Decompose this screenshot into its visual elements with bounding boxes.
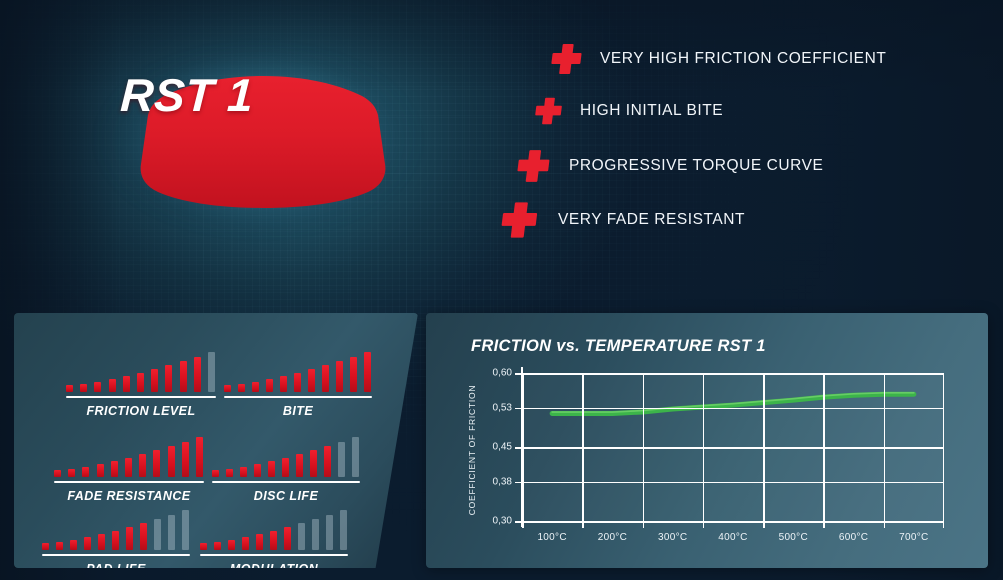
chart-y-tick	[515, 482, 522, 484]
chart-x-tick	[643, 521, 645, 528]
rating-underline	[200, 554, 348, 556]
rating-bar-filled	[84, 537, 91, 550]
chart-y-tick	[515, 521, 522, 523]
rating-meter: PAD LIFE	[42, 506, 190, 576]
rating-bar-filled	[180, 361, 187, 392]
rating-bar-filled	[111, 461, 118, 477]
ratings-panel: FRICTION LEVELBITEFADE RESISTANCEDISC LI…	[14, 313, 418, 568]
rating-bar-filled	[256, 534, 263, 550]
rating-bar-empty	[326, 515, 333, 550]
rating-bar-filled	[214, 542, 221, 550]
chart-x-tick-label: 600°C	[839, 532, 868, 543]
chart-gridline-vertical	[522, 373, 524, 521]
rating-label: DISC LIFE	[212, 489, 360, 503]
chart-gridline-vertical	[763, 373, 765, 521]
rating-bar-filled	[350, 357, 357, 392]
rating-bar-filled	[151, 369, 158, 392]
rating-underline	[54, 481, 204, 483]
chart-gridline-vertical	[643, 373, 645, 521]
rating-bar-empty	[154, 519, 161, 550]
rating-bars	[66, 348, 216, 392]
rating-label: FRICTION LEVEL	[66, 404, 216, 418]
rating-bar-filled	[296, 454, 303, 477]
rating-bar-filled	[182, 442, 189, 477]
rating-bar-filled	[282, 458, 289, 477]
feature-item-0: VERY HIGH FRICTION COEFFICIENT	[550, 42, 886, 76]
plus-icon	[534, 96, 564, 126]
rating-bar-filled	[196, 437, 203, 477]
rating-bar-filled	[168, 446, 175, 477]
rating-label: FADE RESISTANCE	[54, 489, 204, 503]
rating-bar-filled	[109, 379, 116, 392]
chart-gridline-horizontal	[522, 373, 944, 375]
rating-underline	[212, 481, 360, 483]
chart-gridline-vertical	[703, 373, 705, 521]
chart-y-tick-label: 0,45	[493, 442, 512, 453]
rating-bar-filled	[324, 446, 331, 477]
rating-underline	[42, 554, 190, 556]
rating-bar-filled	[280, 376, 287, 392]
chart-x-tick-label: 200°C	[598, 532, 627, 543]
chart-y-tick	[515, 373, 522, 375]
chart-x-tick-label: 100°C	[537, 532, 566, 543]
rating-bar-empty	[168, 515, 175, 550]
rating-label: BITE	[224, 404, 372, 418]
chart-x-tick-label: 400°C	[718, 532, 747, 543]
rating-bar-empty	[352, 437, 359, 477]
rating-bar-filled	[242, 537, 249, 550]
rating-bar-empty	[312, 519, 319, 550]
rating-bar-filled	[66, 385, 73, 392]
rating-underline	[66, 396, 216, 398]
rating-bar-filled	[140, 523, 147, 550]
features-list: VERY HIGH FRICTION COEFFICIENT HIGH INIT…	[500, 26, 980, 246]
rating-bar-filled	[54, 470, 61, 477]
chart-y-axis-label: COEFFICIENT OF FRICTION	[464, 370, 480, 530]
feature-item-3: VERY FADE RESISTANT	[500, 200, 745, 240]
chart-gridline-vertical	[884, 373, 886, 521]
rating-bar-filled	[194, 357, 201, 392]
product-logo: RST 1	[60, 22, 460, 252]
chart-y-tick-label: 0,38	[493, 476, 512, 487]
rating-bar-filled	[240, 467, 247, 477]
rating-bar-filled	[266, 379, 273, 392]
rating-meter: BITE	[224, 348, 372, 418]
chart-x-tick	[943, 521, 945, 528]
chart-x-tick-label: 500°C	[779, 532, 808, 543]
rating-bar-filled	[226, 469, 233, 477]
plus-icon	[516, 148, 552, 184]
rating-bars	[42, 506, 190, 550]
feature-label: HIGH INITIAL BITE	[580, 102, 723, 120]
rating-bar-filled	[212, 470, 219, 477]
chart-y-tick	[515, 447, 522, 449]
rating-bar-filled	[310, 450, 317, 477]
chart-y-tick-label: 0,30	[493, 516, 512, 527]
rating-bar-filled	[97, 464, 104, 477]
feature-label: PROGRESSIVE TORQUE CURVE	[569, 157, 823, 175]
rating-bar-filled	[56, 542, 63, 550]
rating-bar-filled	[42, 543, 49, 550]
rating-bar-empty	[298, 523, 305, 550]
rating-bar-filled	[68, 469, 75, 477]
rating-bars	[212, 433, 360, 477]
chart-gridline-horizontal	[522, 447, 944, 449]
chart-gridline-horizontal	[522, 521, 944, 523]
rating-meter: DISC LIFE	[212, 433, 360, 503]
rating-bar-empty	[182, 510, 189, 550]
chart-x-tick	[522, 521, 524, 528]
ratings-grid: FRICTION LEVELBITEFADE RESISTANCEDISC LI…	[14, 313, 418, 568]
rating-bar-filled	[200, 543, 207, 550]
chart-gridline-vertical	[823, 373, 825, 521]
rating-bar-filled	[294, 373, 301, 392]
rating-bar-filled	[284, 527, 291, 550]
feature-item-1: HIGH INITIAL BITE	[534, 96, 723, 126]
chart-y-tick	[515, 408, 522, 410]
rating-meter: MODULATION	[200, 506, 348, 576]
chart-panel: FRICTION vs. TEMPERATURE RST 1 COEFFICIE…	[426, 313, 988, 568]
chart-plot-area: 0,600,530,450,380,30100°C200°C300°C400°C…	[522, 373, 944, 521]
chart-gridline-vertical	[943, 373, 945, 521]
rating-bar-empty	[340, 510, 347, 550]
rating-bar-filled	[308, 369, 315, 392]
chart-gridline-vertical	[582, 373, 584, 521]
rating-bar-filled	[228, 540, 235, 550]
rating-bar-filled	[137, 373, 144, 392]
rating-bar-filled	[98, 534, 105, 550]
rating-meter: FRICTION LEVEL	[66, 348, 216, 418]
chart-x-tick-label: 700°C	[899, 532, 928, 543]
rating-bar-filled	[123, 376, 130, 392]
feature-label: VERY HIGH FRICTION COEFFICIENT	[600, 50, 886, 68]
chart-gridline-horizontal	[522, 408, 944, 410]
rating-bar-filled	[270, 531, 277, 550]
rating-bar-filled	[165, 365, 172, 392]
rating-meter: FADE RESISTANCE	[54, 433, 204, 503]
rating-bar-filled	[254, 464, 261, 477]
rating-bar-filled	[82, 467, 89, 477]
feature-label: VERY FADE RESISTANT	[558, 211, 745, 229]
rating-bar-empty	[208, 352, 215, 392]
rating-bar-empty	[338, 442, 345, 477]
rating-bar-filled	[268, 461, 275, 477]
chart-x-tick	[884, 521, 886, 528]
rating-bars	[224, 348, 372, 392]
rating-bar-filled	[224, 385, 231, 392]
chart-title: FRICTION vs. TEMPERATURE RST 1	[471, 337, 766, 356]
rating-bars	[200, 506, 348, 550]
rating-bar-filled	[139, 454, 146, 477]
rating-bar-filled	[112, 531, 119, 550]
rating-bar-filled	[70, 540, 77, 550]
rating-bar-filled	[125, 458, 132, 477]
rating-bar-filled	[336, 361, 343, 392]
rating-bar-filled	[153, 450, 160, 477]
plus-icon	[550, 42, 584, 76]
chart-x-tick	[763, 521, 765, 528]
rating-bar-filled	[322, 365, 329, 392]
chart-y-tick-label: 0,60	[493, 368, 512, 379]
chart-x-tick-label: 300°C	[658, 532, 687, 543]
rating-bar-filled	[238, 384, 245, 392]
rating-bar-filled	[94, 382, 101, 392]
chart-x-tick	[823, 521, 825, 528]
rating-underline	[224, 396, 372, 398]
chart-x-tick	[703, 521, 705, 528]
rating-bars	[54, 433, 204, 477]
feature-item-2: PROGRESSIVE TORQUE CURVE	[516, 148, 823, 184]
chart-y-tick-label: 0,53	[493, 402, 512, 413]
rating-bar-filled	[126, 527, 133, 550]
plus-icon	[500, 200, 540, 240]
rating-bar-filled	[80, 384, 87, 392]
chart-y-axis-label-text: COEFFICIENT OF FRICTION	[467, 385, 477, 515]
rating-bar-filled	[252, 382, 259, 392]
rating-bar-filled	[364, 352, 371, 392]
chart-x-tick	[582, 521, 584, 528]
chart-gridline-horizontal	[522, 482, 944, 484]
badge-label: RST 1	[56, 22, 314, 167]
